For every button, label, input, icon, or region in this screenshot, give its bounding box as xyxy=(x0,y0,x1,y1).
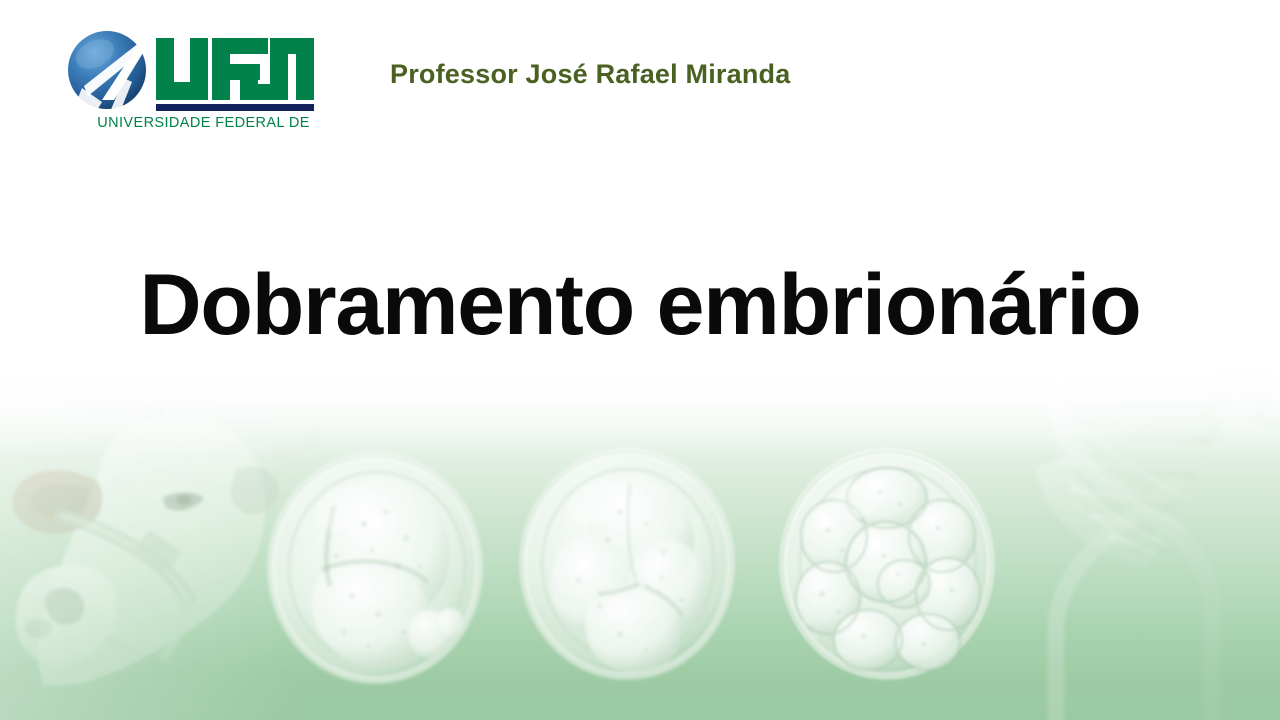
logo-institution-text: UNIVERSIDADE FEDERAL DE LAVRAS xyxy=(97,115,314,131)
background-image-band xyxy=(0,348,1280,720)
embryo-4-cell xyxy=(512,444,742,684)
ufla-logo: UNIVERSIDADE FEDERAL DE LAVRAS xyxy=(62,26,314,132)
embryo-8-cell-morula xyxy=(772,444,1002,684)
background-top-fade xyxy=(0,348,1280,458)
logo-underline-bar xyxy=(156,104,314,111)
presentation-slide: UNIVERSIDADE FEDERAL DE LAVRAS Professor… xyxy=(0,0,1280,720)
page-title: Dobramento embrionário xyxy=(0,262,1280,348)
ufla-sphere-arrow-icon xyxy=(68,31,146,112)
ufla-wordmark xyxy=(156,38,314,100)
presenter-name: Professor José Rafael Miranda xyxy=(390,59,790,90)
